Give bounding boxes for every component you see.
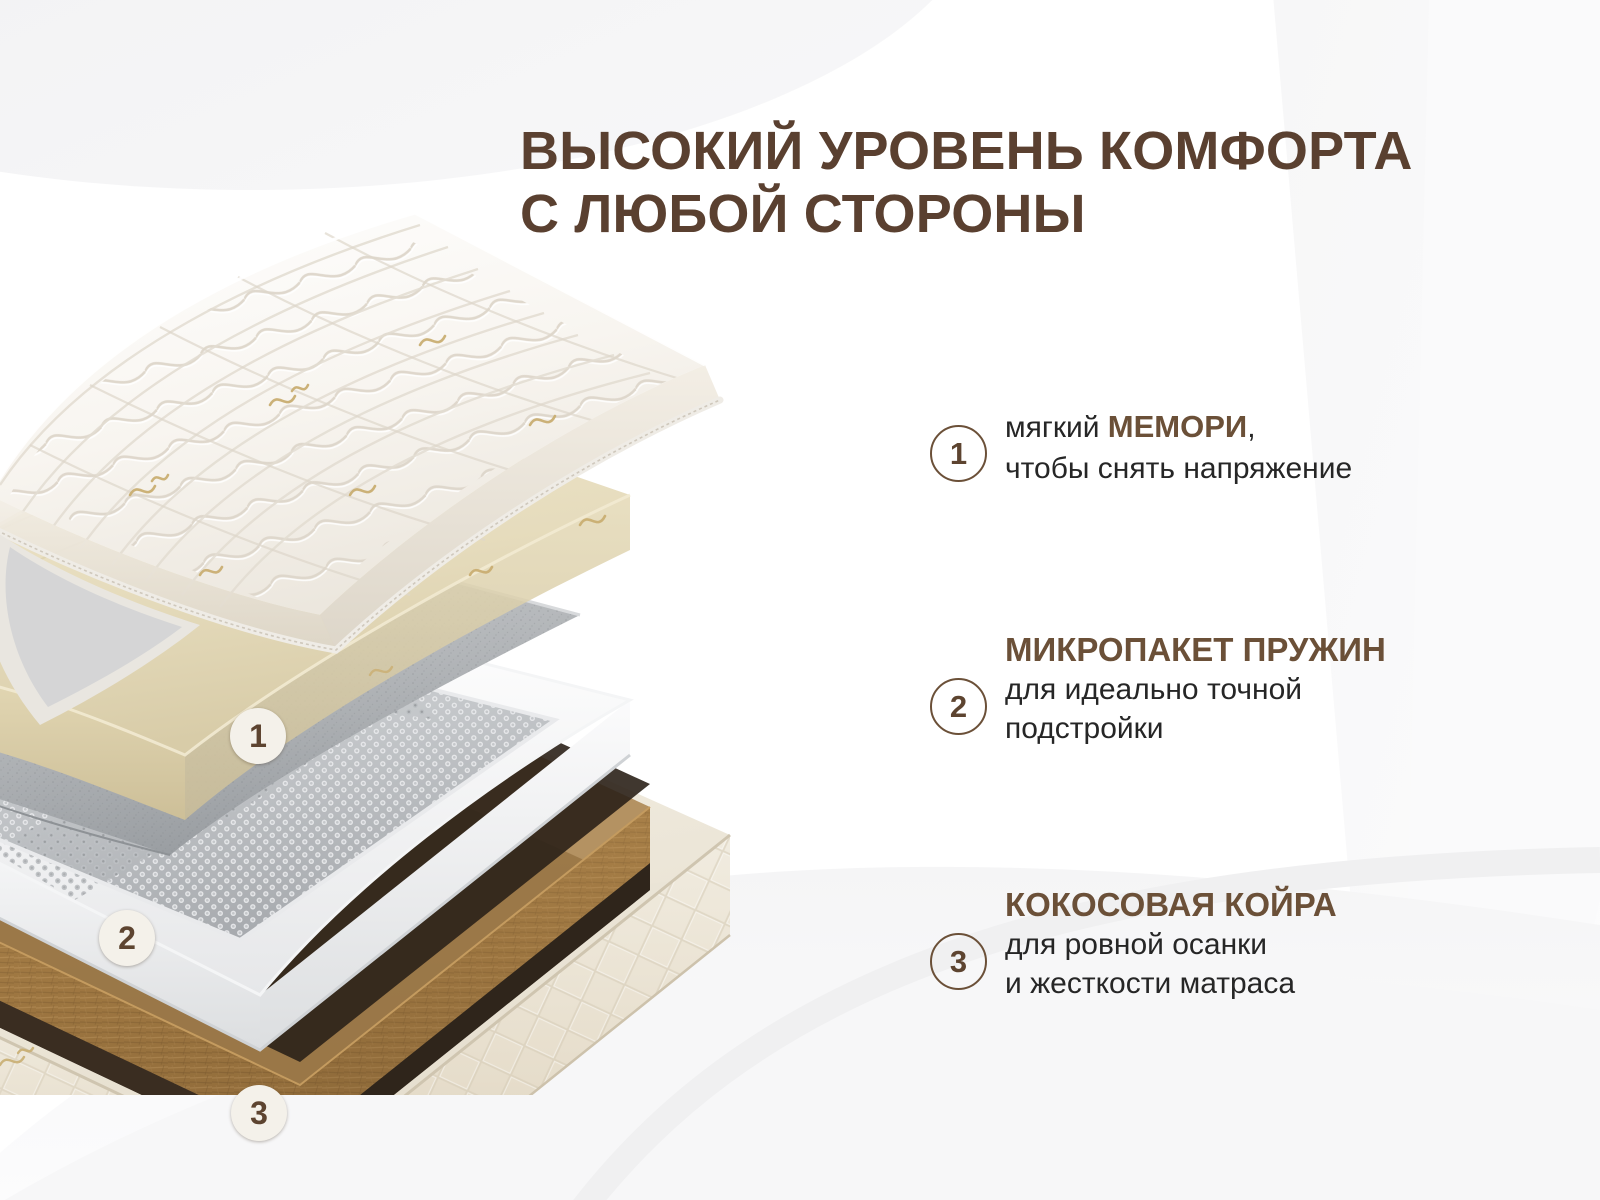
feature-text-2: МИКРОПАКЕТ ПРУЖИН для идеально точной по… — [1005, 630, 1386, 748]
feature-title-2: МИКРОПАКЕТ ПРУЖИН — [1005, 630, 1386, 670]
promo-banner: ВЫСОКИЙ УРОВЕНЬ КОМФОРТА С ЛЮБОЙ СТОРОНЫ — [0, 0, 1600, 1200]
feature-number-3: 3 — [930, 933, 987, 990]
feature-accent-1: МЕМОРИ — [1108, 409, 1247, 444]
feature-item-3: 3 КОКОСОВАЯ КОЙРА для ровной осанки и же… — [930, 885, 1337, 1003]
layer-badge-2: 2 — [99, 910, 155, 966]
feature-text-3: КОКОСОВАЯ КОЙРА для ровной осанки и жест… — [1005, 885, 1337, 1003]
feature-number-2: 2 — [930, 678, 987, 735]
feature-item-2: 2 МИКРОПАКЕТ ПРУЖИН для идеально точной … — [930, 630, 1386, 748]
feature-number-1: 1 — [930, 425, 987, 482]
feature-headline-1: мягкий МЕМОРИ, — [1005, 406, 1352, 449]
feature-prefix-1: мягкий — [1005, 411, 1108, 444]
feature-body-2: для идеально точной подстройки — [1005, 670, 1386, 748]
feature-body-3: для ровной осанки и жесткости матраса — [1005, 925, 1337, 1003]
feature-text-1: мягкий МЕМОРИ, чтобы снять напряжение — [1005, 406, 1352, 488]
feature-title-3: КОКОСОВАЯ КОЙРА — [1005, 885, 1337, 925]
layer-badge-1: 1 — [230, 708, 286, 764]
feature-suffix-1: , — [1247, 411, 1255, 444]
feature-item-1: 1 мягкий МЕМОРИ, чтобы снять напряжение — [930, 406, 1352, 488]
layer-badge-3: 3 — [231, 1085, 287, 1141]
feature-body-1: чтобы снять напряжение — [1005, 449, 1352, 488]
mattress-illustration: 1 2 3 — [0, 195, 850, 1095]
